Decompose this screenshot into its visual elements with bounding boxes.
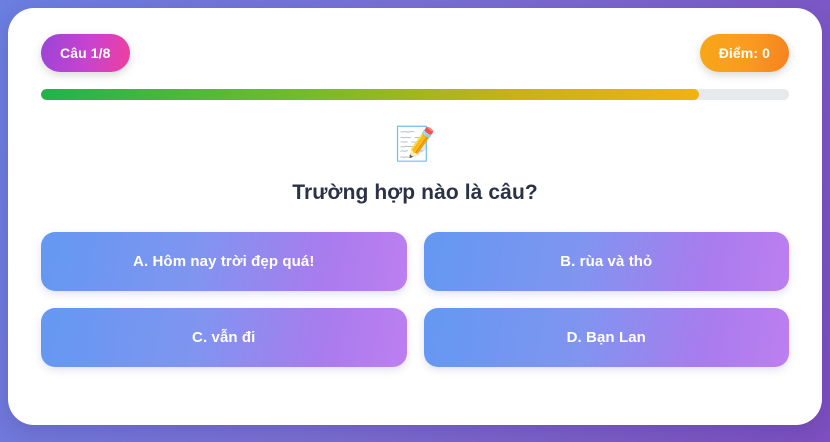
progress-bar bbox=[41, 89, 789, 100]
question-counter-badge: Câu 1/8 bbox=[41, 34, 130, 72]
question-area: 📝 Trường hợp nào là câu? bbox=[41, 100, 789, 205]
memo-pencil-icon: 📝 bbox=[41, 127, 789, 165]
answer-option-a[interactable]: A. Hôm nay trời đẹp quá! bbox=[41, 232, 407, 291]
score-badge: Điểm: 0 bbox=[700, 34, 789, 72]
progress-track bbox=[41, 89, 789, 100]
question-title: Trường hợp nào là câu? bbox=[41, 181, 789, 205]
quiz-stage: Câu 1/8 Điểm: 0 📝 Trường hợp nào là câu?… bbox=[0, 0, 830, 442]
answer-option-b[interactable]: B. rùa và thỏ bbox=[424, 232, 790, 291]
quiz-card: Câu 1/8 Điểm: 0 📝 Trường hợp nào là câu?… bbox=[8, 8, 822, 425]
answer-options: A. Hôm nay trời đẹp quá! B. rùa và thỏ C… bbox=[41, 232, 789, 367]
quiz-header: Câu 1/8 Điểm: 0 bbox=[41, 34, 789, 72]
answer-option-d[interactable]: D. Bạn Lan bbox=[424, 308, 790, 367]
answer-option-c[interactable]: C. vẫn đi bbox=[41, 308, 407, 367]
progress-fill bbox=[41, 89, 699, 100]
